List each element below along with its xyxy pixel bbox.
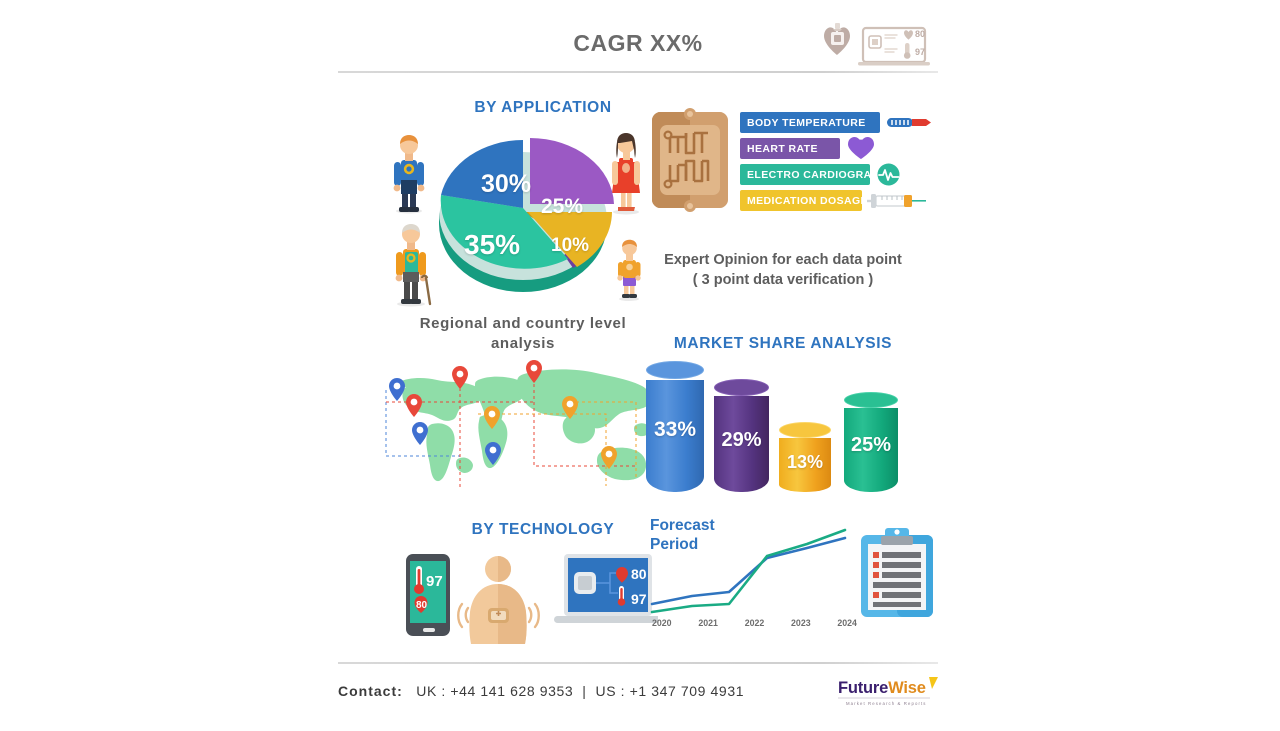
forecast-line-series-2	[652, 530, 845, 612]
footer-divider	[338, 662, 938, 664]
map-pin	[389, 378, 405, 401]
person-elderly-icon	[396, 224, 430, 307]
regional-title-line-1: Regional and country level	[368, 314, 678, 334]
parameter-row-medication-dosage: MEDICATION DOSAGE	[740, 190, 938, 212]
cylinder-bar-2: 29%	[714, 387, 769, 492]
forecast-block: Forecast Period 2020 2021 2022 2023 2024	[643, 512, 938, 640]
map-pin	[406, 394, 422, 417]
forecast-year: 2024	[837, 618, 857, 628]
parameter-rows: BODY TEMPERATURE HEART RATE	[740, 112, 938, 216]
cylinder-label-4: 25%	[844, 434, 898, 457]
forecast-year: 2022	[745, 618, 765, 628]
contact-line: Contact: UK : +44 141 628 9353 | US : +1…	[338, 683, 744, 699]
svg-text:97: 97	[426, 573, 443, 590]
parameter-label-body-temperature: BODY TEMPERATURE	[740, 112, 880, 133]
body-sensor-icon	[458, 556, 539, 644]
contact-us[interactable]: US : +1 347 709 4931	[595, 683, 744, 699]
smartphone-vitals-icon: 97 80	[406, 554, 450, 636]
forecast-year: 2023	[791, 618, 811, 628]
header-watermark-icons: 80 97	[820, 22, 938, 68]
svg-text:Market Research & Reports: Market Research & Reports	[846, 701, 927, 706]
cylinder-label-1: 33%	[646, 418, 704, 442]
cylinder-bar-1: 33%	[646, 370, 704, 492]
person-adult-female-icon	[612, 133, 640, 215]
expert-line-2: ( 3 point data verification )	[628, 270, 938, 290]
heart-icon	[846, 136, 890, 161]
laptop-vitals-watermark-icon: 80 97	[858, 28, 930, 66]
svg-text:97: 97	[915, 47, 925, 57]
forecast-line-series-1	[652, 538, 845, 604]
heart-sensor-watermark-icon	[824, 23, 850, 55]
parameter-label-electro-cardiogram: ELECTRO CARDIOGRAM	[740, 164, 870, 185]
expert-opinion-text: Expert Opinion for each data point ( 3 p…	[628, 250, 938, 290]
cylinder-bar-4: 25%	[844, 400, 898, 492]
map-pin	[412, 422, 428, 445]
cylinder-bar-3: 13%	[779, 430, 831, 492]
svg-text:FutureWise: FutureWise	[838, 679, 926, 697]
forecast-year-axis: 2020 2021 2022 2023 2024	[652, 618, 857, 628]
parameter-row-body-temperature: BODY TEMPERATURE	[740, 112, 938, 134]
header-divider	[338, 71, 938, 73]
parameter-label-medication-dosage: MEDICATION DOSAGE	[740, 190, 862, 211]
infographic-page: CAGR XX% 80	[0, 0, 1280, 731]
thermometer-icon	[886, 110, 930, 135]
technology-icons: 97 80	[368, 552, 658, 644]
regional-title-line-2: analysis	[368, 334, 678, 354]
parameter-label-heart-rate: HEART RATE	[740, 138, 840, 159]
person-adult-male-icon	[394, 135, 425, 214]
section-title-market-share: MARKET SHARE ANALYSIS	[638, 335, 928, 353]
forecast-year: 2021	[698, 618, 718, 628]
forecast-year: 2020	[652, 618, 672, 628]
cylinder-label-3: 13%	[779, 452, 831, 473]
contact-uk[interactable]: UK : +44 141 628 9353	[416, 683, 573, 699]
svg-text:80: 80	[915, 29, 925, 39]
clipboard-icon	[857, 526, 937, 621]
infographic-card: CAGR XX% 80	[338, 0, 938, 731]
biosensor-chip-icon	[646, 108, 734, 212]
header: CAGR XX% 80	[338, 0, 938, 72]
world-map	[374, 358, 664, 506]
contact-separator: |	[582, 683, 586, 699]
expert-line-1: Expert Opinion for each data point	[628, 250, 938, 270]
futurewise-logo[interactable]: FutureWise Market Research & Reports	[838, 676, 938, 710]
cylinder-label-2: 29%	[714, 429, 769, 452]
contact-label: Contact:	[338, 683, 403, 699]
line-chart-forecast	[647, 522, 852, 622]
section-title-regional: Regional and country level analysis	[368, 314, 678, 355]
pie-slice-25	[530, 138, 614, 204]
bar-chart-market-share: 33% 29% 13% 25%	[638, 362, 928, 492]
biosensor-parameters-block: BODY TEMPERATURE HEART RATE	[646, 108, 938, 218]
parameter-row-heart-rate: HEART RATE	[740, 138, 938, 160]
syringe-icon	[866, 188, 928, 213]
parameter-row-electro-cardiogram: ELECTRO CARDIOGRAM	[740, 164, 938, 186]
svg-text:80: 80	[416, 600, 428, 611]
ecg-circle-icon	[876, 162, 920, 187]
